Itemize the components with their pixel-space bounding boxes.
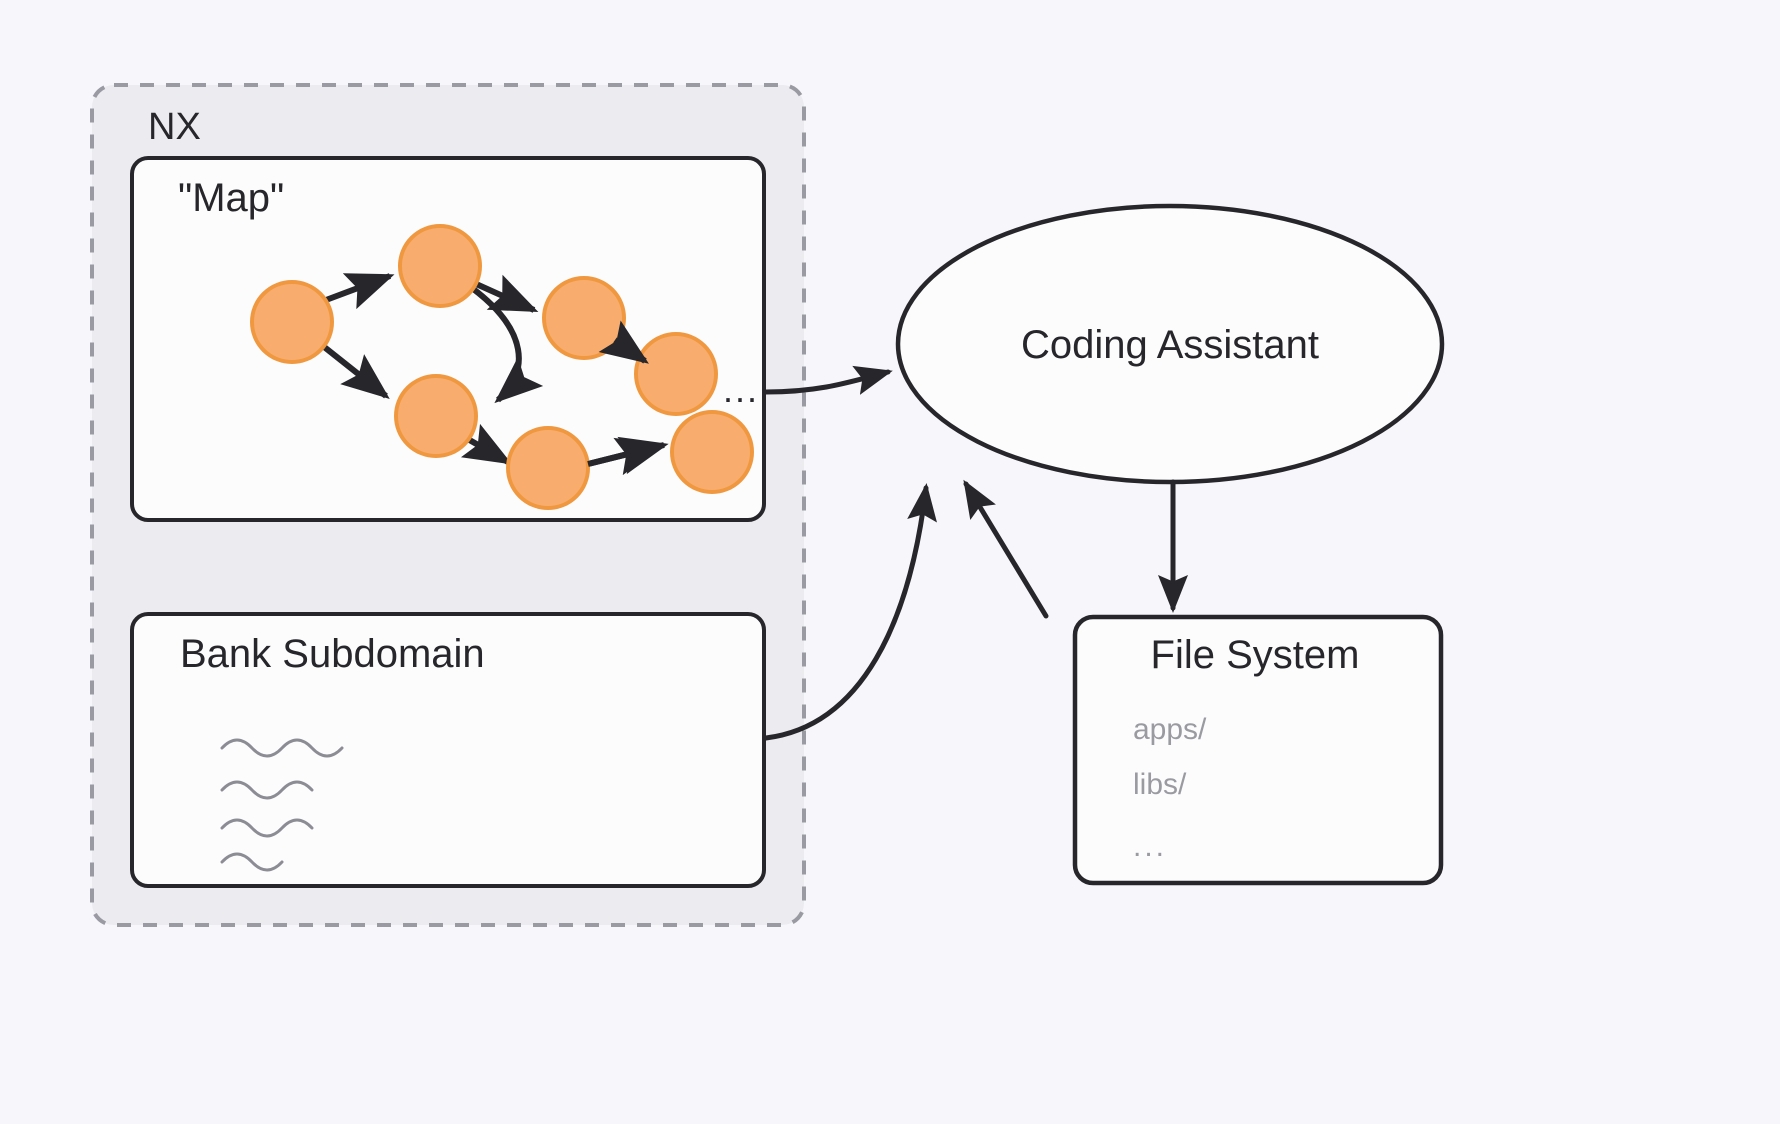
map-panel-title: "Map" [178,178,284,218]
bank-subdomain-title: Bank Subdomain [180,634,485,674]
file-system-title: File System [1151,635,1360,675]
file-system-item-more: ... [1133,832,1167,862]
diagram-shapes [0,0,1780,1124]
graph-node[interactable] [252,282,332,362]
coding-assistant-label: Coding Assistant [1021,325,1319,365]
graph-node[interactable] [400,226,480,306]
map-graph-ellipsis: ... [723,372,759,408]
graph-node[interactable] [396,376,476,456]
graph-node[interactable] [636,334,716,414]
file-system-item-libs: libs/ [1133,770,1186,800]
graph-node[interactable] [672,412,752,492]
nx-container-label: NX [148,108,201,146]
diagram-canvas: NX "Map" ... Bank Subdomain Coding Assis… [0,0,1780,1124]
graph-node[interactable] [544,278,624,358]
connector-filesystem-to-assistant [966,484,1046,616]
file-system-item-apps: apps/ [1133,715,1206,745]
graph-node[interactable] [508,428,588,508]
